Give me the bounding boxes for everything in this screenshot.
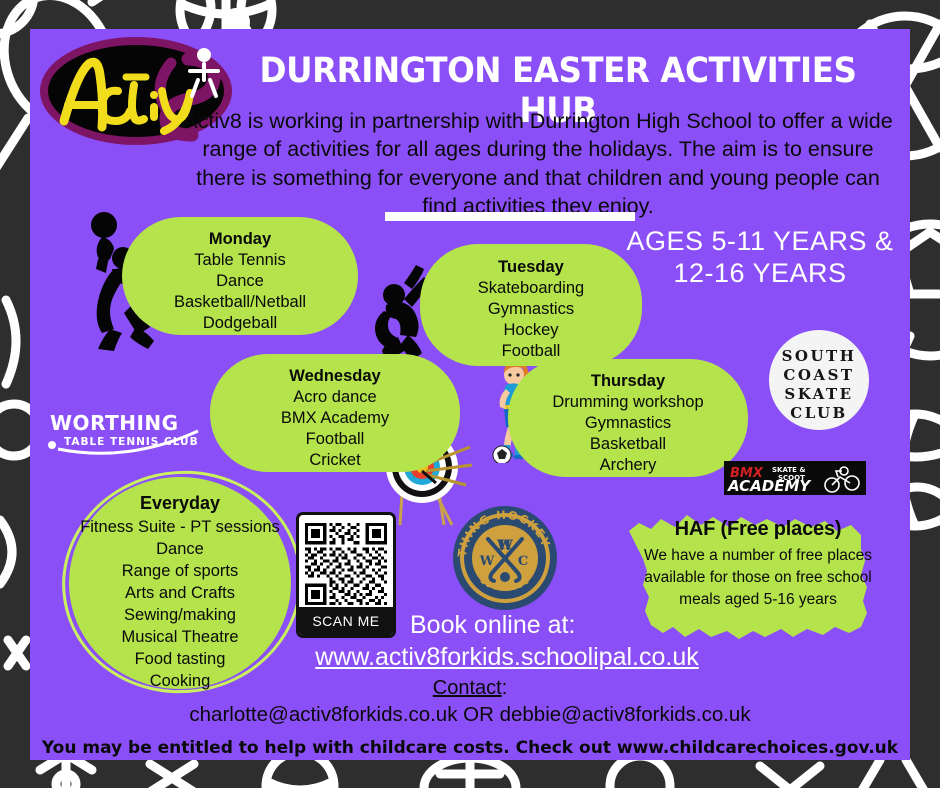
svg-text:H: H <box>499 538 511 553</box>
day-activity: Table Tennis <box>194 251 285 269</box>
qr-code-block[interactable]: SCAN ME <box>296 512 396 638</box>
day-title: Thursday <box>522 371 734 392</box>
day-card-thursday: Thursday Drumming workshop Gymnastics Ba… <box>508 359 748 477</box>
divider <box>385 212 635 221</box>
bmx-line3a: SKATE & <box>772 466 805 474</box>
day-activity: Basketball <box>590 435 666 453</box>
day-activity: Drumming workshop <box>552 393 703 411</box>
day-activity: Basketball/Netball <box>174 293 306 311</box>
haf-body: We have a number of free places availabl… <box>644 547 872 608</box>
bmx-line2: ACADEMY <box>727 477 812 495</box>
day-activity: Food tasting <box>135 650 226 668</box>
worthing-table-tennis-club-logo: WORTHING TABLE TENNIS CLUB <box>38 407 208 455</box>
wttc-line1: WORTHING <box>50 411 179 435</box>
south-coast-skate-club-logo: SOUTH COAST SKATE CLUB <box>768 329 870 431</box>
day-activity: BMX Academy <box>281 409 389 427</box>
scsc-line3: SKATE <box>784 385 853 403</box>
worthing-hockey-club-logo: WORTHING HOCKEY CLUB EST. 1896 WW H W C <box>450 503 560 613</box>
day-activity: Musical Theatre <box>121 628 238 646</box>
day-activity: Hockey <box>503 321 558 339</box>
day-activity: Acro dance <box>293 388 376 406</box>
scsc-line1: SOUTH <box>782 347 857 365</box>
svg-text:W: W <box>479 554 495 569</box>
haf-title: HAF (Free places) <box>630 515 886 543</box>
day-title: Monday <box>136 229 344 250</box>
day-card-tuesday: Tuesday Skateboarding Gymnastics Hockey … <box>420 244 642 366</box>
day-title: Tuesday <box>434 257 628 278</box>
contact-label-underline: Contact <box>433 677 502 699</box>
day-activity: Skateboarding <box>478 279 584 297</box>
booking-url-link[interactable]: www.activ8forkids.schoolipal.co.uk <box>292 643 722 672</box>
childcare-note: You may be entitled to help with childca… <box>30 738 910 758</box>
bmx-academy-logo: BMX SKATE & SCOOT ACADEMY <box>724 461 866 495</box>
contact-colon: : <box>502 677 508 699</box>
intro-paragraph: Activ8 is working in partnership with Du… <box>182 107 894 221</box>
contact-label: Contact: <box>30 677 910 700</box>
day-activity: Fitness Suite - PT sessions <box>80 518 280 536</box>
scsc-line2: COAST <box>783 366 854 384</box>
day-activity: Arts and Crafts <box>125 584 235 602</box>
poster-panel: DURRINGTON EASTER ACTIVITIES HUB Activ8 … <box>30 29 910 760</box>
day-activity: Football <box>306 430 365 448</box>
book-online-label: Book online at: <box>410 611 575 640</box>
day-activity: Dodgeball <box>203 314 277 332</box>
day-title: Wednesday <box>224 366 446 387</box>
day-activity: Dance <box>216 272 264 290</box>
haf-text-block: HAF (Free places) We have a number of fr… <box>630 515 886 611</box>
day-activity: Dance <box>156 540 204 558</box>
day-activity: Sewing/making <box>124 606 236 624</box>
qr-code-image[interactable] <box>302 520 390 608</box>
day-activity: Gymnastics <box>488 300 574 318</box>
qr-scan-me-label: SCAN ME <box>299 607 393 635</box>
contact-emails[interactable]: charlotte@activ8forkids.co.uk OR debbie@… <box>30 703 910 727</box>
scsc-line4: CLUB <box>790 404 847 422</box>
day-card-wednesday: Wednesday Acro dance BMX Academy Footbal… <box>210 354 460 472</box>
svg-text:C: C <box>518 554 528 569</box>
day-activity: Gymnastics <box>585 414 671 432</box>
day-activity: Archery <box>600 456 657 474</box>
day-card-everyday: Everyday Fitness Suite - PT sessions Dan… <box>69 477 291 689</box>
day-activity: Cricket <box>309 451 360 469</box>
day-title: Everyday <box>69 492 291 516</box>
day-card-monday: Monday Table Tennis Dance Basketball/Net… <box>122 217 358 335</box>
day-activity: Range of sports <box>122 562 238 580</box>
day-activity: Football <box>502 342 561 360</box>
ages-text: AGES 5-11 YEARS & 12-16 YEARS <box>620 225 900 290</box>
